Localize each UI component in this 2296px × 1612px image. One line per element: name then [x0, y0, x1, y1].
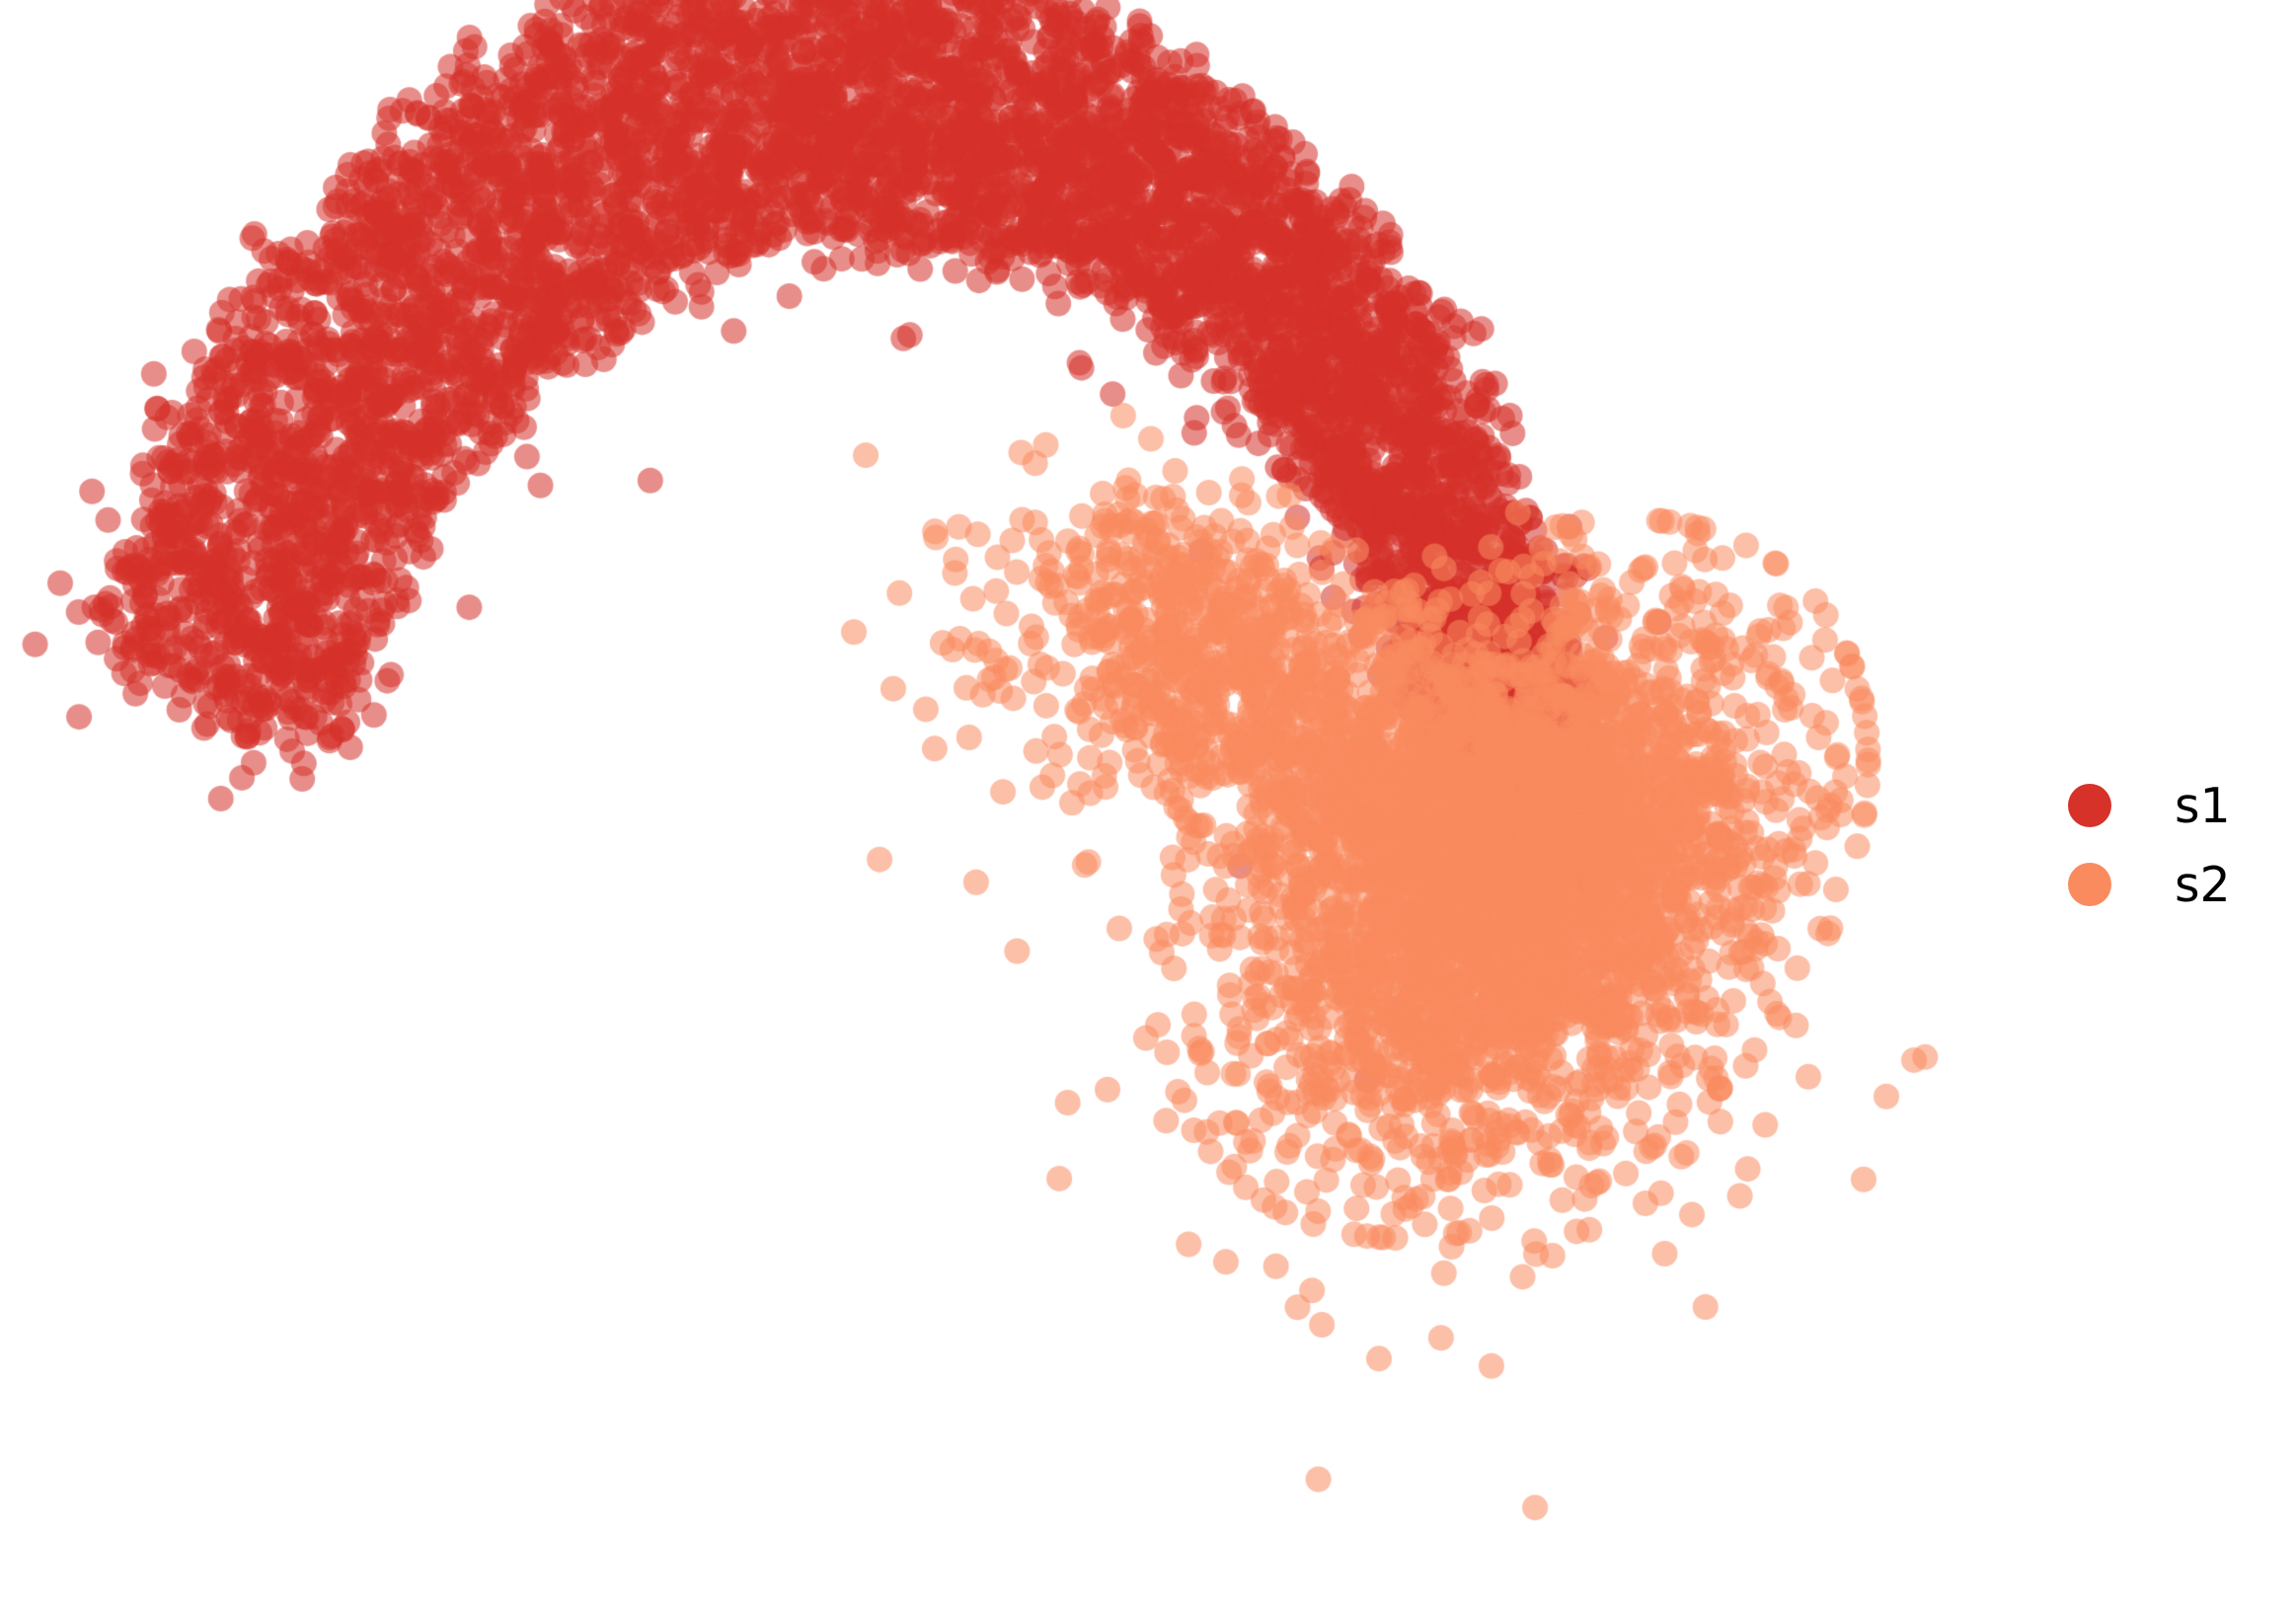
- legend-item-label: s2: [2175, 861, 2231, 909]
- legend-item-label: s1: [2175, 782, 2231, 830]
- scatter-plot-area: [0, 0, 2033, 1612]
- legend-marker-icon: [2068, 863, 2111, 906]
- legend: s1 s2: [2068, 766, 2285, 924]
- legend-item-s2[interactable]: s2: [2068, 845, 2285, 924]
- legend-marker-icon: [2068, 784, 2111, 827]
- legend-item-s1[interactable]: s1: [2068, 766, 2285, 845]
- scatter-figure: SDEvelo s1 s2: [0, 0, 2296, 1612]
- scatter-points-canvas: [0, 0, 2033, 1612]
